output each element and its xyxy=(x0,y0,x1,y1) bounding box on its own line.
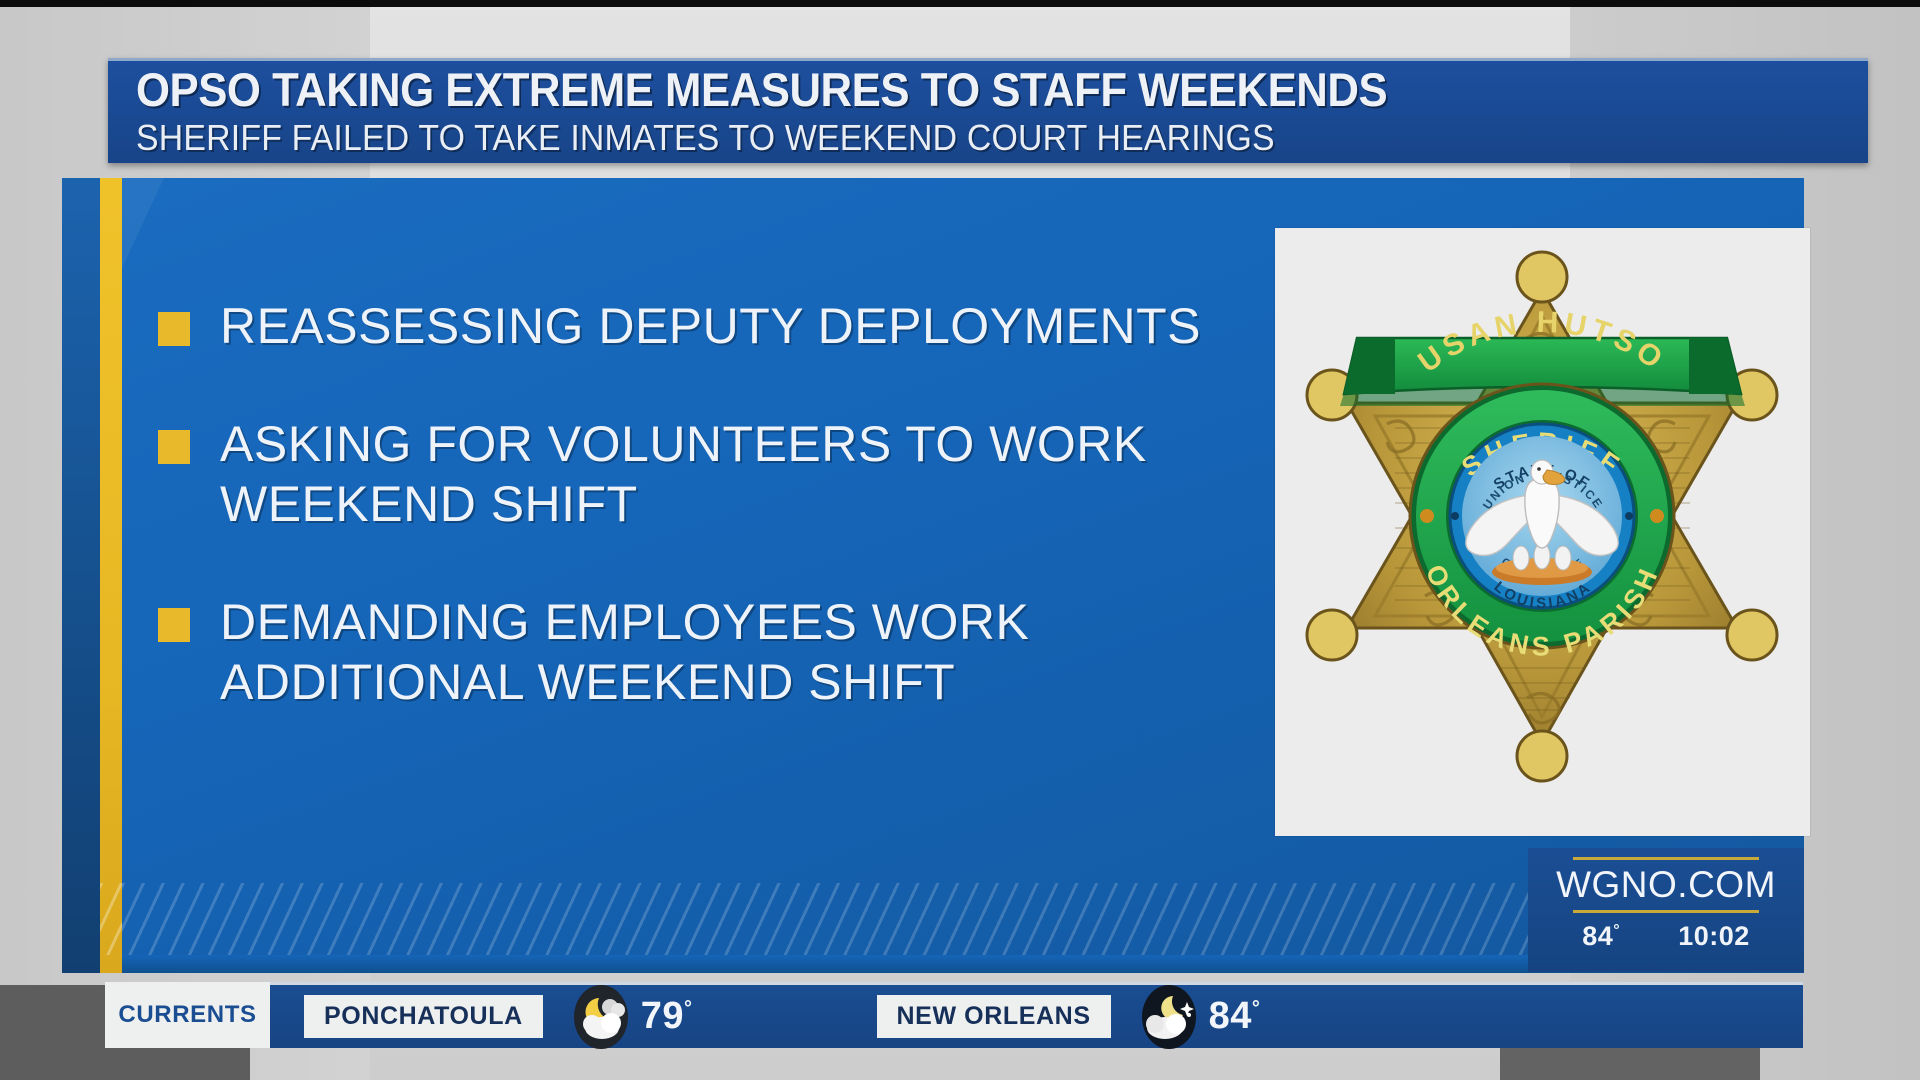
bullet-square-icon xyxy=(158,608,190,642)
panel-left-dark-stripe xyxy=(62,178,100,973)
panel-left-gold-stripe xyxy=(100,178,122,973)
degree-icon: ° xyxy=(1613,922,1620,939)
ticker-temp-new-orleans: 84° xyxy=(1209,995,1261,1038)
bullet-text: REASSESSING DEPUTY DEPLOYMENTS xyxy=(220,296,1201,356)
bug-info-row: 84° 10:02 xyxy=(1528,921,1804,952)
bullet-text: DEMANDING EMPLOYEES WORK ADDITIONAL WEEK… xyxy=(220,592,1268,712)
bug-temperature-value: 84 xyxy=(1582,921,1613,951)
list-item: REASSESSING DEPUTY DEPLOYMENTS xyxy=(158,296,1268,356)
bullet-list: REASSESSING DEPUTY DEPLOYMENTS ASKING FO… xyxy=(158,296,1268,712)
sheriff-badge-card: SUSAN HUTSON SHERIFF ORLEANS PARISH STAT… xyxy=(1275,228,1810,836)
station-website-text: WGNO.COM xyxy=(1528,860,1804,910)
bug-rule-bottom xyxy=(1573,910,1759,913)
ticker-temp-value: 84 xyxy=(1209,995,1252,1037)
ticker-city-ponchatoula: PONCHATOULA xyxy=(304,995,543,1038)
sheriff-star-badge-icon: SUSAN HUTSON SHERIFF ORLEANS PARISH STAT… xyxy=(1275,228,1810,836)
panel-hatch-stripes-left xyxy=(100,883,122,955)
ticker-temp-ponchatoula: 79° xyxy=(641,995,693,1038)
degree-icon: ° xyxy=(684,997,693,1019)
ticker-label-currents: CURRENTS xyxy=(105,982,270,1048)
ticker-city-new-orleans: NEW ORLEANS xyxy=(877,995,1111,1038)
list-item: DEMANDING EMPLOYEES WORK ADDITIONAL WEEK… xyxy=(158,592,1268,712)
moon-partly-cloudy-icon xyxy=(569,984,633,1050)
moon-partly-cloudy-night-icon xyxy=(1137,984,1201,1050)
ticker-temp-value: 79 xyxy=(641,995,684,1037)
degree-icon: ° xyxy=(1252,997,1261,1019)
headline-sub-text: SHERIFF FAILED TO TAKE INMATES TO WEEKEN… xyxy=(136,117,1764,159)
station-web-bug: WGNO.COM 84° 10:02 xyxy=(1528,848,1804,972)
headline-main-text: OPSO TAKING EXTREME MEASURES TO STAFF WE… xyxy=(136,63,1747,117)
weather-ticker-bar: CURRENTS PONCHATOULA 79° NEW ORLEANS 84° xyxy=(108,982,1803,1048)
bullet-square-icon xyxy=(158,430,190,464)
bullet-square-icon xyxy=(158,312,190,346)
letterbox-top xyxy=(0,0,1920,7)
list-item: ASKING FOR VOLUNTEERS TO WORK WEEKEND SH… xyxy=(158,414,1268,534)
bullet-text: ASKING FOR VOLUNTEERS TO WORK WEEKEND SH… xyxy=(220,414,1268,534)
headline-banner: OPSO TAKING EXTREME MEASURES TO STAFF WE… xyxy=(108,58,1868,163)
bug-clock: 10:02 xyxy=(1678,921,1750,952)
bug-temperature: 84° xyxy=(1582,921,1620,952)
